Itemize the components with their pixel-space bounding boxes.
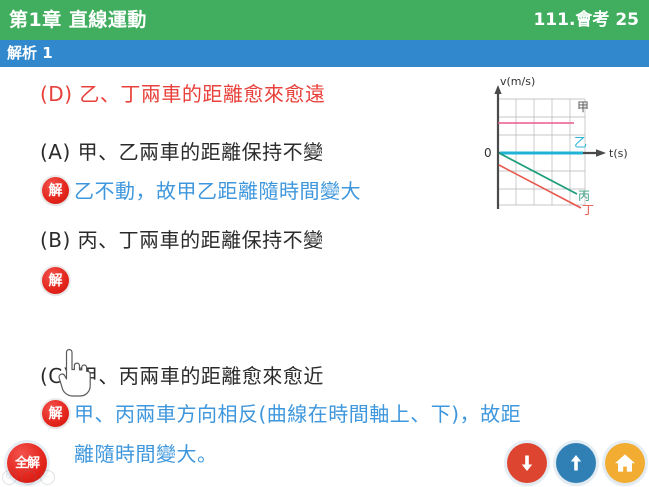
graph-series-ding-label: 丁: [582, 203, 594, 215]
next-page-button[interactable]: [556, 443, 596, 483]
graph-series-jia-label: 甲: [577, 100, 589, 114]
explain-badge-c[interactable]: 解: [42, 400, 69, 427]
zoom-in-icon[interactable]: ⌕: [21, 470, 36, 485]
app-header: 第1章 直線運動 111.會考 25: [0, 0, 649, 40]
graph-x-axis-arrow: [596, 149, 606, 157]
reset-view-icon[interactable]: ⟳: [2, 470, 17, 485]
graph-origin-label: 0: [484, 146, 492, 160]
home-icon: [614, 452, 636, 474]
section-header-label: 解析 1: [7, 46, 53, 61]
question-content: (D) 乙、丁兩車的距離愈來愈遠 (A) 甲、乙兩車的距離保持不變 解 乙不動，…: [0, 67, 649, 487]
prev-page-button[interactable]: [507, 443, 547, 483]
mini-toolbar: ⟳ ⌕ –: [2, 470, 55, 485]
pointing-hand-cursor: [55, 349, 91, 397]
option-b-text: (B) 丙、丁兩車的距離保持不變: [40, 227, 324, 253]
option-a-explanation-row[interactable]: 解 乙不動，故甲乙距離隨時間變大: [42, 177, 361, 205]
arrow-down-icon: [517, 453, 537, 473]
graph-series-bing: [499, 153, 577, 194]
option-c-explanation-row[interactable]: 解 甲、丙兩車方向相反(曲線在時間軸上、下)，故距 離隨時間變大。: [42, 400, 521, 468]
exam-source-label: 111.會考 25: [533, 12, 639, 29]
graph-series-bing-label: 丙: [578, 189, 590, 203]
page-title: 第1章 直線運動: [9, 11, 147, 30]
option-b-explanation-row[interactable]: 解: [42, 267, 69, 294]
option-c-explanation-line-2: 離隨時間變大。: [74, 440, 521, 468]
graph-series-ding: [499, 165, 581, 208]
graph-x-axis-label: t(s): [609, 147, 628, 160]
velocity-time-graph: v(m/s) t(s) 0 甲 乙 丙 丁: [478, 75, 643, 215]
arrow-up-icon: [566, 453, 586, 473]
zoom-out-icon[interactable]: –: [40, 470, 55, 485]
section-header: 解析 1: [0, 40, 649, 67]
graph-y-axis-label: v(m/s): [500, 75, 535, 88]
option-a-explanation-text: 乙不動，故甲乙距離隨時間變大: [74, 177, 361, 205]
option-a-text: (A) 甲、乙兩車的距離保持不變: [40, 139, 324, 165]
option-d-text: (D) 乙、丁兩車的距離愈來愈遠: [40, 81, 325, 107]
explain-badge-a[interactable]: 解: [42, 177, 69, 204]
explain-badge-b[interactable]: 解: [42, 267, 69, 294]
graph-series-yi-label: 乙: [574, 136, 587, 151]
option-c-explanation-line-1: 甲、丙兩車方向相反(曲線在時間軸上、下)，故距: [74, 400, 521, 428]
home-button[interactable]: [605, 443, 645, 483]
